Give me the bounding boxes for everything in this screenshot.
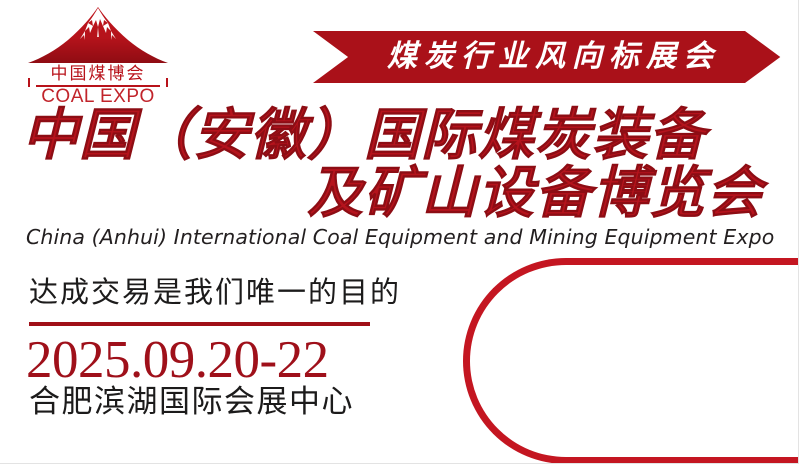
event-date: 2025.09.20-22 [26, 329, 329, 391]
logo-chinese-name: 中国煤博会 [22, 64, 174, 85]
page-title-line-2: 及矿山设备博览会 [0, 164, 781, 224]
mountain-icon [22, 6, 174, 68]
ribbon-label: 煤炭行业风向标展会 [313, 31, 787, 83]
audience-photo-frame [463, 258, 799, 464]
page-title-line-1: 中国（安徽）国际煤炭装备 [0, 106, 781, 166]
info-divider [29, 322, 370, 326]
page-title-english: China (Anhui) International Coal Equipme… [26, 224, 786, 250]
event-venue: 合肥滨湖国际会展中心 [29, 383, 354, 421]
coal-expo-logo[interactable]: 中国煤博会 COAL EXPO [22, 6, 174, 106]
photo-ring-border [463, 258, 799, 464]
expo-poster: 中国煤博会 COAL EXPO 煤炭行业风向标展会 中国（安徽）国际煤炭装备 及… [0, 0, 799, 464]
tagline-ribbon: 煤炭行业风向标展会 [313, 31, 787, 83]
slogan-text: 达成交易是我们唯一的目的 [29, 274, 401, 310]
